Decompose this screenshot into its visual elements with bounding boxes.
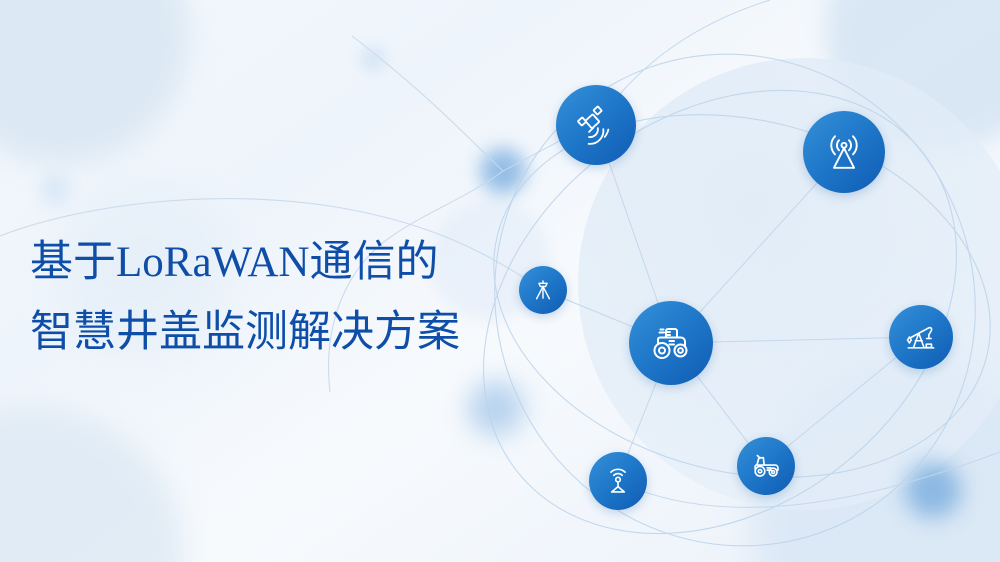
oil-pumpjack-icon (903, 319, 939, 355)
background-blob-bottom-left (0, 407, 185, 562)
tractor-icon (647, 319, 695, 367)
title-slide: 基于LoRaWAN通信的 智慧井盖监测解决方案 (0, 0, 1000, 562)
accent-dot-top (360, 46, 386, 72)
wireless-sensor-icon (601, 464, 635, 498)
background-network-disc (578, 58, 1000, 510)
accent-dot-bottom-right (905, 462, 961, 518)
icon-node-wireless-sensor[interactable] (589, 452, 647, 510)
title-line-2: 智慧井盖监测解决方案 (30, 298, 590, 368)
icon-node-harvester[interactable] (737, 437, 795, 495)
background-blob-top-left (0, 0, 190, 165)
icon-node-satellite[interactable] (556, 85, 636, 165)
accent-dot-far-left (40, 175, 70, 205)
icon-node-signal-tower[interactable] (803, 111, 885, 193)
title-line-1: 基于LoRaWAN通信的 (30, 228, 590, 298)
slide-title: 基于LoRaWAN通信的 智慧井盖监测解决方案 (30, 228, 590, 367)
accent-dot-left (468, 380, 524, 436)
signal-tower-icon (821, 129, 867, 175)
satellite-icon (574, 103, 618, 147)
icon-node-tractor[interactable] (629, 301, 713, 385)
accent-dot-upper (480, 148, 526, 194)
harvester-icon (748, 448, 784, 484)
icon-node-oil-pumpjack[interactable] (889, 305, 953, 369)
